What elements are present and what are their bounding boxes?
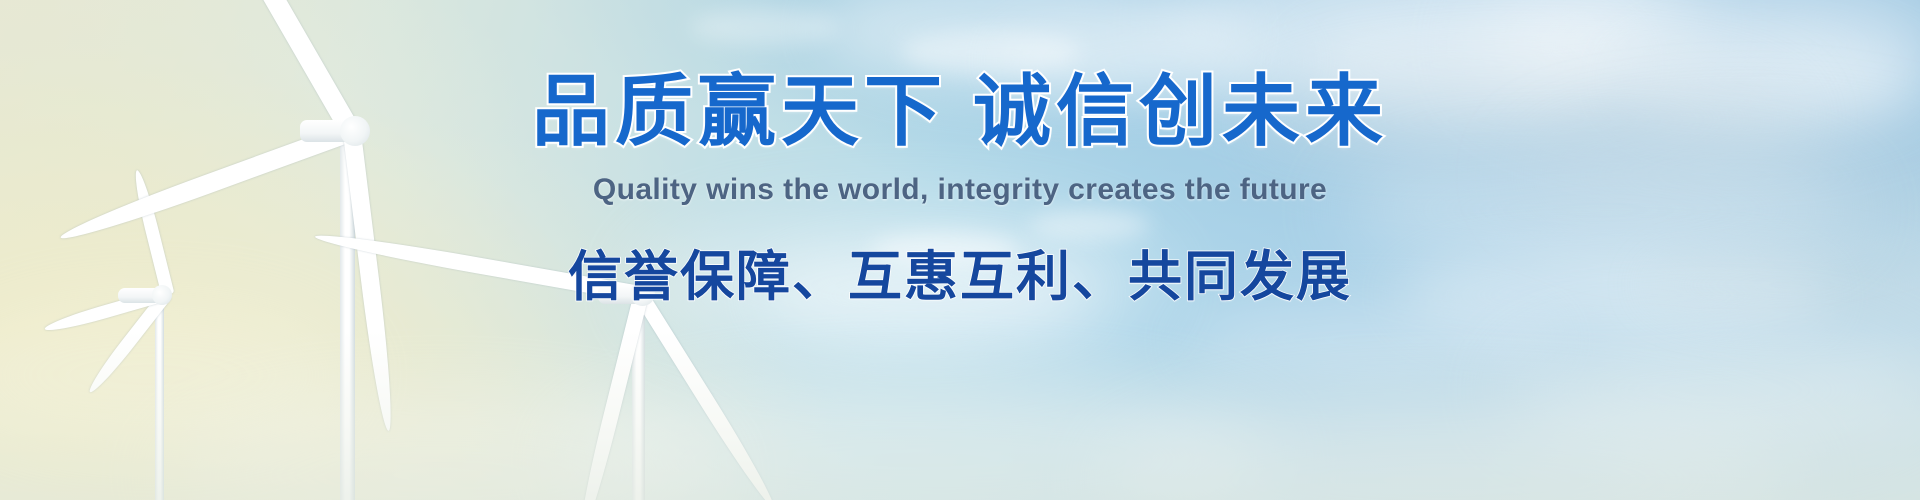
turbine-blade bbox=[635, 292, 780, 500]
wind-turbine-group bbox=[0, 0, 1920, 500]
company-slogan-banner: 品质赢天下诚信创未来 Quality wins the world, integ… bbox=[0, 0, 1920, 500]
turbine-hub bbox=[630, 281, 655, 306]
wind-turbine-center bbox=[0, 0, 1920, 500]
turbine-blade bbox=[314, 229, 642, 302]
